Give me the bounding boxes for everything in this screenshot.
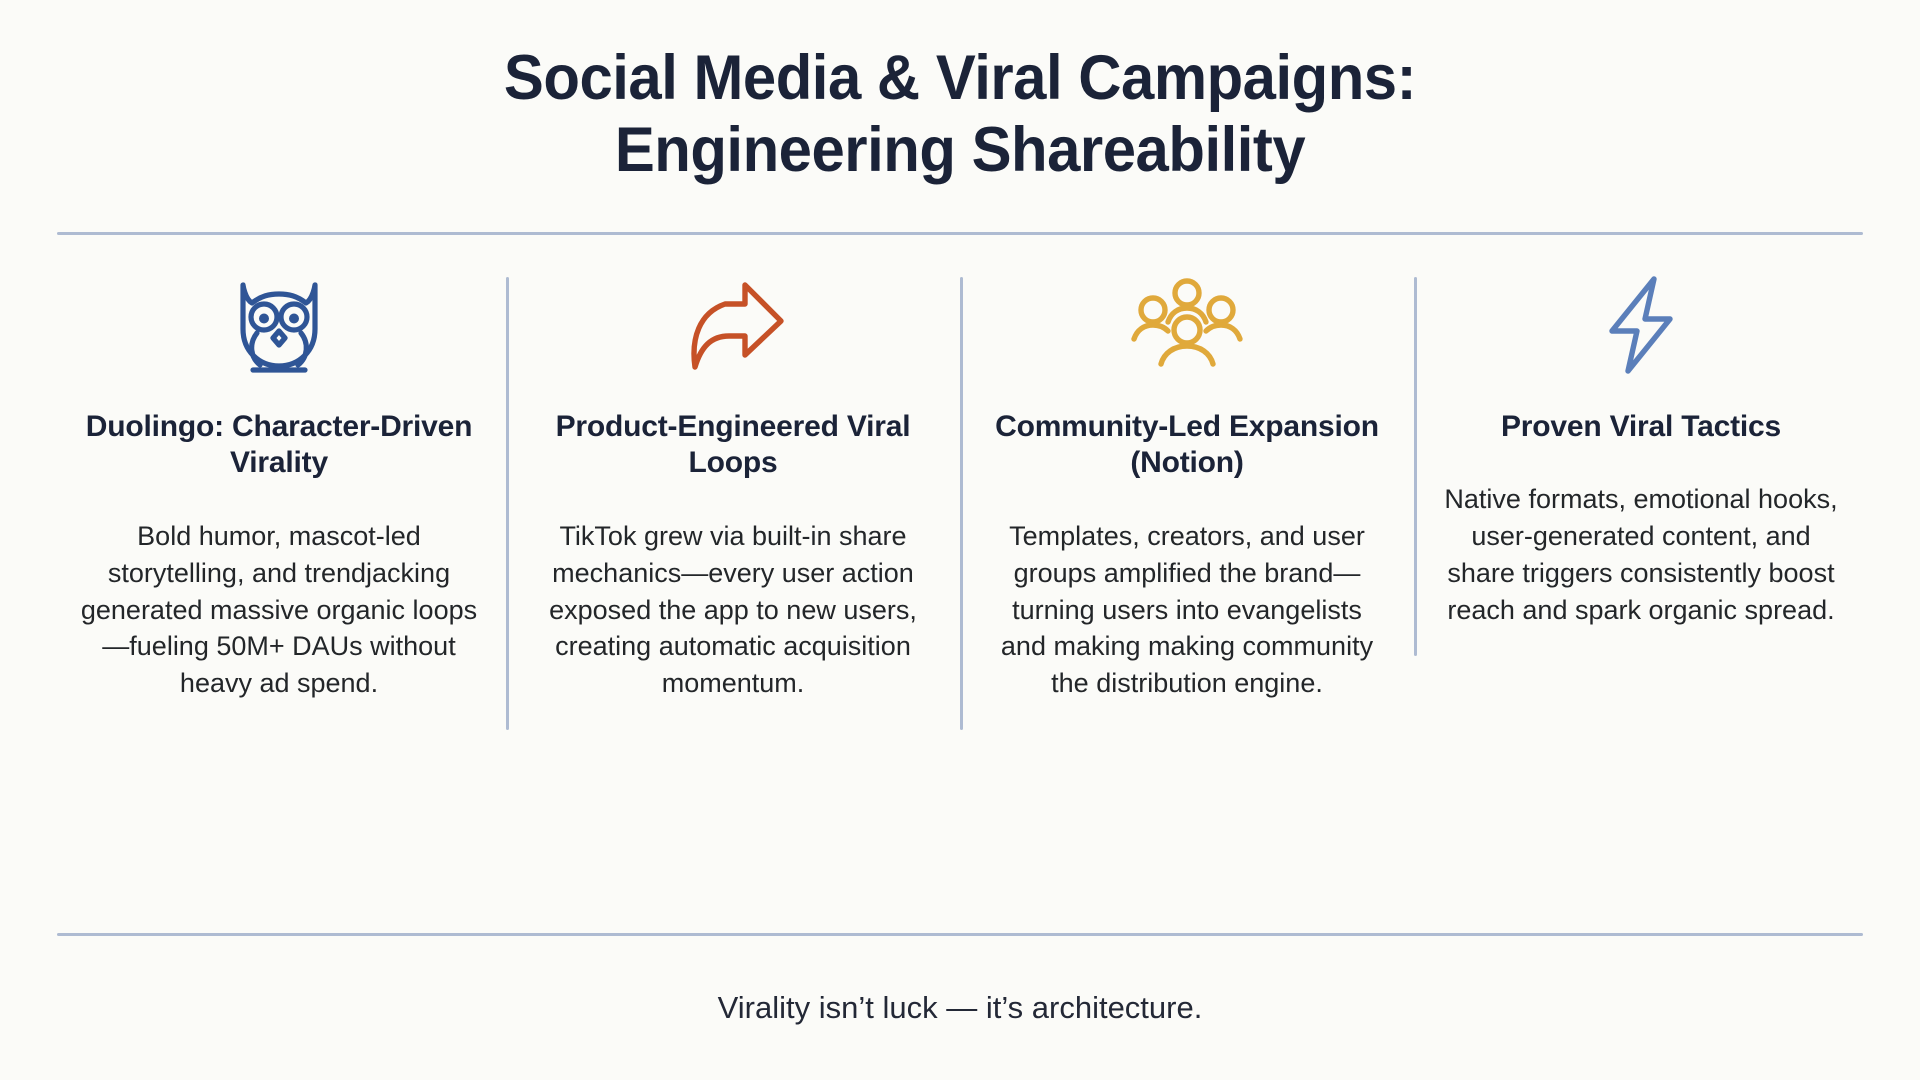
slide-root: Social Media & Viral Campaigns: Engineer… [0, 0, 1920, 1080]
column-body: TikTok grew via built-in share mechanics… [528, 518, 938, 702]
column-viral-loops: Product-Engineered Viral Loops TikTok gr… [506, 271, 960, 702]
share-arrow-icon [528, 271, 938, 379]
column-body: Bold humor, mascot-led storytelling, and… [74, 518, 484, 702]
divider-top [57, 232, 1863, 235]
column-heading: Duolingo: Character-Driven Virality [74, 409, 484, 482]
columns-container: Duolingo: Character-Driven Virality Bold… [0, 271, 1920, 933]
column-heading: Community-Led Expansion (Notion) [982, 409, 1392, 482]
column-body: Native formats, emotional hooks, user-ge… [1436, 481, 1846, 628]
page-title-line-2: Engineering Shareability [48, 114, 1872, 186]
column-heading: Product-Engineered Viral Loops [528, 409, 938, 482]
footer: Virality isn’t luck — it’s architecture. [0, 936, 1920, 1080]
column-proven-tactics: Proven Viral Tactics Native formats, emo… [1414, 271, 1868, 628]
column-community-led: Community-Led Expansion (Notion) Templat… [960, 271, 1414, 702]
column-heading: Proven Viral Tactics [1436, 409, 1846, 446]
people-group-icon [982, 271, 1392, 379]
footer-tagline: Virality isn’t luck — it’s architecture. [0, 988, 1920, 1028]
lightning-bolt-icon [1436, 271, 1846, 379]
column-duolingo: Duolingo: Character-Driven Virality Bold… [52, 271, 506, 702]
owl-icon [74, 271, 484, 379]
page-title: Social Media & Viral Campaigns: Engineer… [0, 0, 1920, 187]
column-body: Templates, creators, and user groups amp… [982, 518, 1392, 702]
page-title-line-1: Social Media & Viral Campaigns: [48, 42, 1872, 114]
